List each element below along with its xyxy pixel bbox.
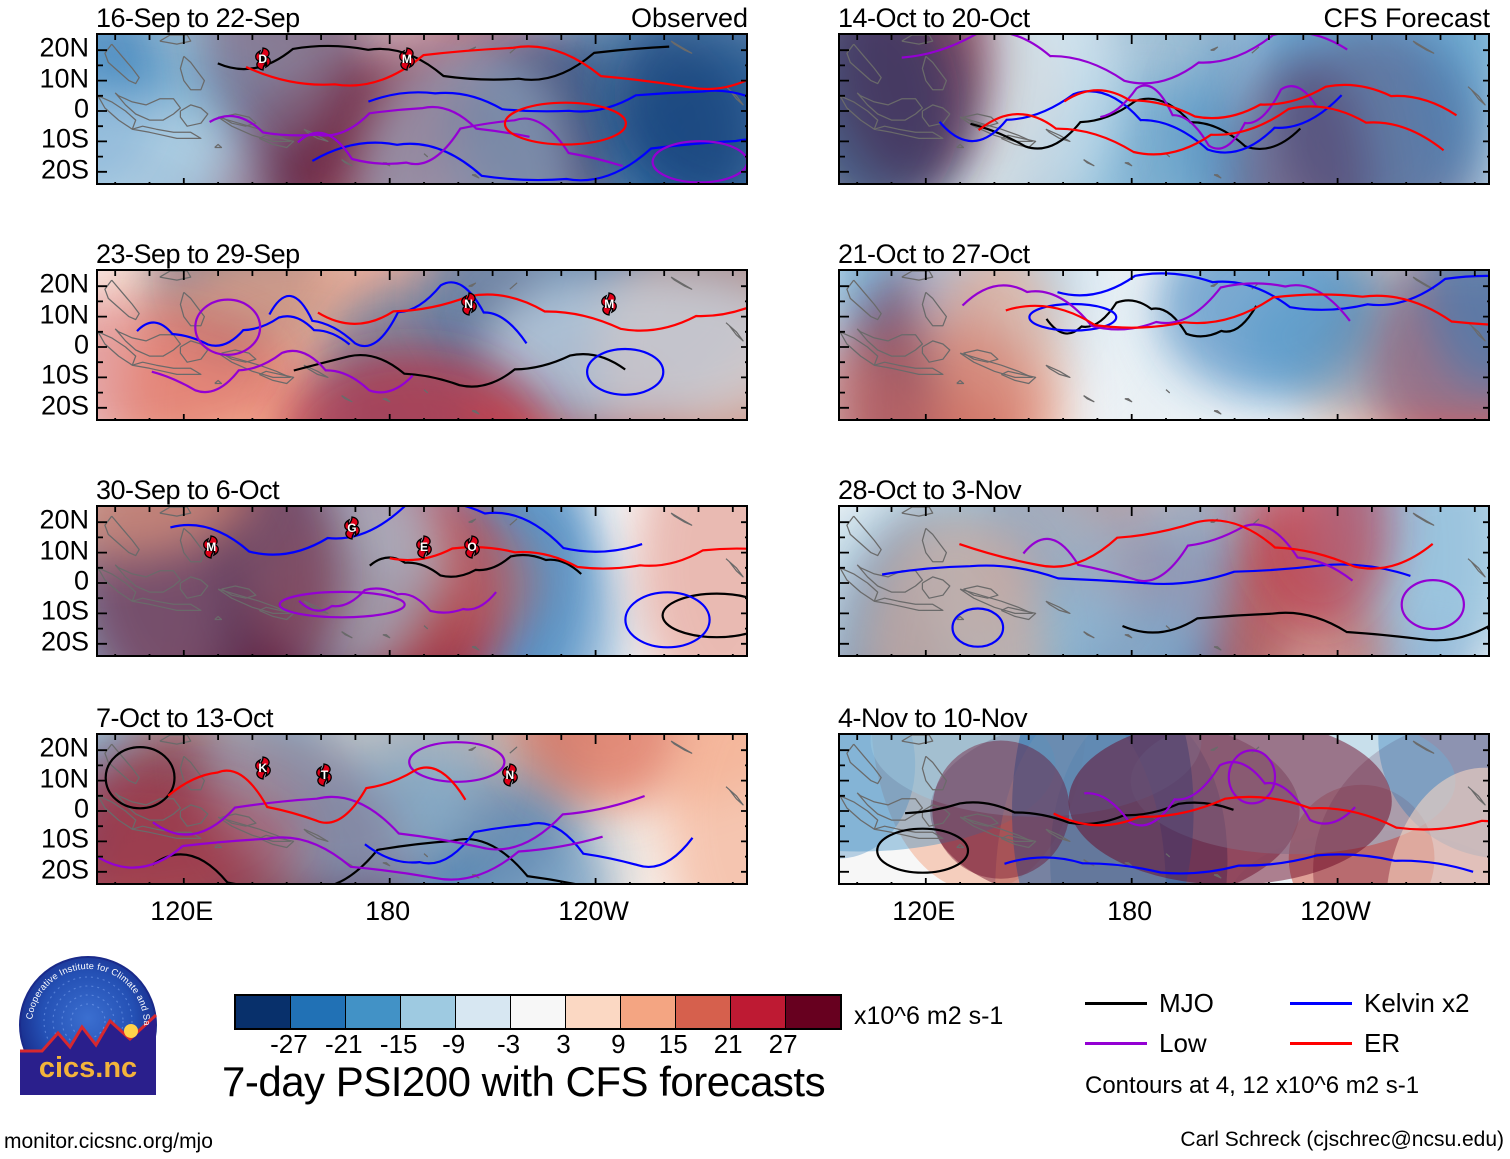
- colorbar-tick-label: 9: [611, 1029, 625, 1060]
- map-area: [838, 33, 1490, 185]
- y-axis-tick-label: 10N: [39, 763, 89, 794]
- x-axis-tick-label: 180: [365, 896, 410, 927]
- legend-line-swatch: [1290, 1042, 1352, 1045]
- colorbar-tick-label: 15: [659, 1029, 688, 1060]
- colorbar-tick-label: -21: [325, 1029, 363, 1060]
- panel-title: 4-Nov to 10-Nov: [838, 703, 1027, 734]
- colorbar-tick-label: 3: [556, 1029, 570, 1060]
- map-area: [838, 505, 1490, 657]
- panel-p4: 7-Oct to 13-OctKTN20N10N010S20S120E18012…: [96, 733, 748, 885]
- storm-marker[interactable]: M: [200, 534, 222, 560]
- colorbar-tick-label: 27: [769, 1029, 798, 1060]
- legend-item-er: ER: [1290, 1028, 1400, 1059]
- storm-marker[interactable]: M: [396, 46, 418, 72]
- colorbar-units-label: x10^6 m2 s-1: [854, 1002, 1003, 1031]
- y-axis-tick-label: 20S: [41, 854, 89, 885]
- column-header-observed: Observed: [631, 3, 748, 34]
- y-axis-tick-label: 20N: [39, 505, 89, 536]
- panel-title: 14-Oct to 20-Oct: [838, 3, 1030, 34]
- y-axis-tick-label: 0: [74, 94, 89, 125]
- footer-url[interactable]: monitor.cicsnc.org/mjo: [4, 1130, 213, 1154]
- y-axis-tick-label: 10S: [41, 360, 89, 391]
- panel-title: 21-Oct to 27-Oct: [838, 239, 1030, 270]
- panel-p8: 4-Nov to 10-Nov120E180120W: [838, 733, 1490, 885]
- map-area: MGEO: [96, 505, 748, 657]
- panel-p2: 23-Sep to 29-SepNM20N10N010S20S: [96, 269, 748, 421]
- y-axis-tick-label: 20S: [41, 626, 89, 657]
- x-axis-tick-label: 180: [1107, 896, 1152, 927]
- y-axis-tick-label: 10N: [39, 535, 89, 566]
- storm-marker[interactable]: E: [413, 534, 435, 560]
- storm-label: O: [467, 541, 476, 553]
- figure-caption: 7-day PSI200 with CFS forecasts: [222, 1058, 825, 1106]
- y-axis-tick-label: 20S: [41, 154, 89, 185]
- panel-title: 16-Sep to 22-Sep: [96, 3, 300, 34]
- map-area: [838, 269, 1490, 421]
- legend-line-swatch: [1085, 1002, 1147, 1005]
- storm-marker[interactable]: D: [252, 46, 274, 72]
- storm-marker[interactable]: O: [461, 534, 483, 560]
- y-axis-tick-label: 20S: [41, 390, 89, 421]
- logo-wordmark: cics.nc: [39, 1052, 137, 1084]
- storm-marker[interactable]: N: [458, 291, 480, 317]
- storm-label: K: [258, 762, 267, 774]
- colorbar-tick-label: -27: [270, 1029, 308, 1060]
- legend-label: ER: [1364, 1028, 1400, 1059]
- panel-p5: 14-Oct to 20-OctCFS Forecast: [838, 33, 1490, 185]
- y-axis-tick-label: 20N: [39, 733, 89, 764]
- colorbar-ticks: -27-21-15-9-339152127: [234, 994, 838, 1026]
- panel-p1: 16-Sep to 22-SepObservedDM20N10N010S20S: [96, 33, 748, 185]
- column-header-forecast: CFS Forecast: [1323, 3, 1490, 34]
- map-area: [838, 733, 1490, 885]
- panel-title: 7-Oct to 13-Oct: [96, 703, 273, 734]
- colorbar-tick-label: -3: [497, 1029, 520, 1060]
- legend-label: MJO: [1159, 988, 1214, 1019]
- y-axis-tick-label: 10S: [41, 596, 89, 627]
- legend-item-kelvin-x2: Kelvin x2: [1290, 988, 1470, 1019]
- cics-nc-logo: cics.nc Cooperative Institute for Climat…: [18, 955, 158, 1095]
- map-area: DM: [96, 33, 748, 185]
- storm-label: N: [505, 769, 514, 781]
- x-axis-tick-label: 120W: [1300, 896, 1371, 927]
- legend-item-mjo: MJO: [1085, 988, 1214, 1019]
- colorbar-tick-label: -15: [380, 1029, 418, 1060]
- y-axis-tick-label: 0: [74, 794, 89, 825]
- y-axis-tick-label: 20N: [39, 33, 89, 64]
- map-area: KTN: [96, 733, 748, 885]
- panel-p7: 28-Oct to 3-Nov: [838, 505, 1490, 657]
- storm-label: D: [258, 53, 267, 65]
- y-axis-tick-label: 0: [74, 330, 89, 361]
- legend-item-low: Low: [1085, 1028, 1207, 1059]
- panel-title: 28-Oct to 3-Nov: [838, 475, 1021, 506]
- map-area: NM: [96, 269, 748, 421]
- panel-p3: 30-Sep to 6-OctMGEO20N10N010S20S: [96, 505, 748, 657]
- storm-marker[interactable]: G: [341, 515, 363, 541]
- y-axis-tick-label: 10S: [41, 124, 89, 155]
- panel-title: 23-Sep to 29-Sep: [96, 239, 300, 270]
- storm-marker[interactable]: K: [252, 755, 274, 781]
- y-axis-tick-label: 10N: [39, 299, 89, 330]
- storm-label: E: [420, 541, 428, 553]
- storm-label: G: [347, 522, 356, 534]
- storm-label: N: [464, 298, 473, 310]
- panel-title: 30-Sep to 6-Oct: [96, 475, 279, 506]
- footer-credit: Carl Schreck (cjschrec@ncsu.edu): [1180, 1128, 1504, 1152]
- legend-label: Kelvin x2: [1364, 988, 1470, 1019]
- storm-label: M: [402, 53, 412, 65]
- x-axis-tick-label: 120E: [150, 896, 213, 927]
- legend-label: Low: [1159, 1028, 1207, 1059]
- storm-marker[interactable]: M: [598, 291, 620, 317]
- colorbar-tick-label: -9: [442, 1029, 465, 1060]
- panel-p6: 21-Oct to 27-Oct: [838, 269, 1490, 421]
- y-axis-tick-label: 0: [74, 566, 89, 597]
- y-axis-tick-label: 20N: [39, 269, 89, 300]
- y-axis-tick-label: 10S: [41, 824, 89, 855]
- legend-line-swatch: [1290, 1002, 1352, 1005]
- y-axis-tick-label: 10N: [39, 63, 89, 94]
- storm-label: M: [206, 541, 216, 553]
- storm-label: M: [604, 298, 614, 310]
- legend-line-swatch: [1085, 1042, 1147, 1045]
- contour-note: Contours at 4, 12 x10^6 m2 s-1: [1085, 1072, 1419, 1100]
- colorbar-tick-label: 21: [714, 1029, 743, 1060]
- x-axis-tick-label: 120W: [558, 896, 629, 927]
- storm-marker[interactable]: N: [499, 762, 521, 788]
- storm-label: T: [321, 769, 328, 781]
- x-axis-tick-label: 120E: [892, 896, 955, 927]
- storm-marker[interactable]: T: [313, 762, 335, 788]
